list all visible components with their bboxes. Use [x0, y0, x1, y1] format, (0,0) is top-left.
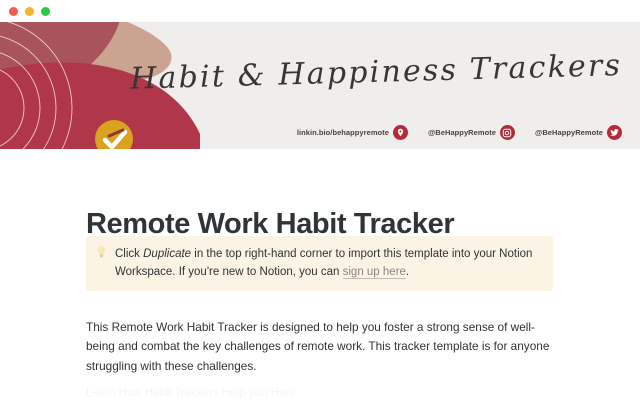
instagram-icon[interactable]	[500, 125, 515, 140]
body-paragraph: This Remote Work Habit Tracker is design…	[86, 318, 556, 377]
callout-text-before: Click	[115, 248, 143, 260]
callout-text: Click Duplicate in the top right-hand co…	[115, 245, 541, 281]
callout-text-end: .	[406, 266, 409, 278]
page-banner: Habit & Happiness Trackers linkin.bio/be…	[0, 22, 640, 149]
window-title-bar	[0, 0, 640, 22]
callout-emphasis: Duplicate	[143, 248, 191, 260]
lightbulb-icon	[96, 245, 115, 281]
social-link-twitter[interactable]: @BeHappyRemote	[535, 125, 622, 140]
close-window-button[interactable]	[9, 7, 18, 16]
social-label: linkin.bio/behappyremote	[297, 128, 389, 137]
maximize-window-button[interactable]	[41, 7, 50, 16]
social-link-linkinbio[interactable]: linkin.bio/behappyremote	[297, 125, 408, 140]
sign-up-link[interactable]: sign up here	[343, 266, 406, 279]
callout-box: Click Duplicate in the top right-hand co…	[86, 236, 553, 291]
social-links-row: linkin.bio/behappyremote @BeHappyRemote …	[297, 125, 622, 140]
traffic-lights	[9, 7, 50, 16]
minimize-window-button[interactable]	[25, 7, 34, 16]
social-label: @BeHappyRemote	[535, 128, 603, 137]
location-pin-icon[interactable]	[393, 125, 408, 140]
social-link-instagram[interactable]: @BeHappyRemote	[428, 125, 515, 140]
social-label: @BeHappyRemote	[428, 128, 496, 137]
check-badge	[95, 120, 133, 149]
page-content: Remote Work Habit Tracker Click Duplicat…	[0, 149, 640, 400]
twitter-icon[interactable]	[607, 125, 622, 140]
trailing-text-line: Learn How Habit Trackers Help you Here	[86, 387, 506, 399]
